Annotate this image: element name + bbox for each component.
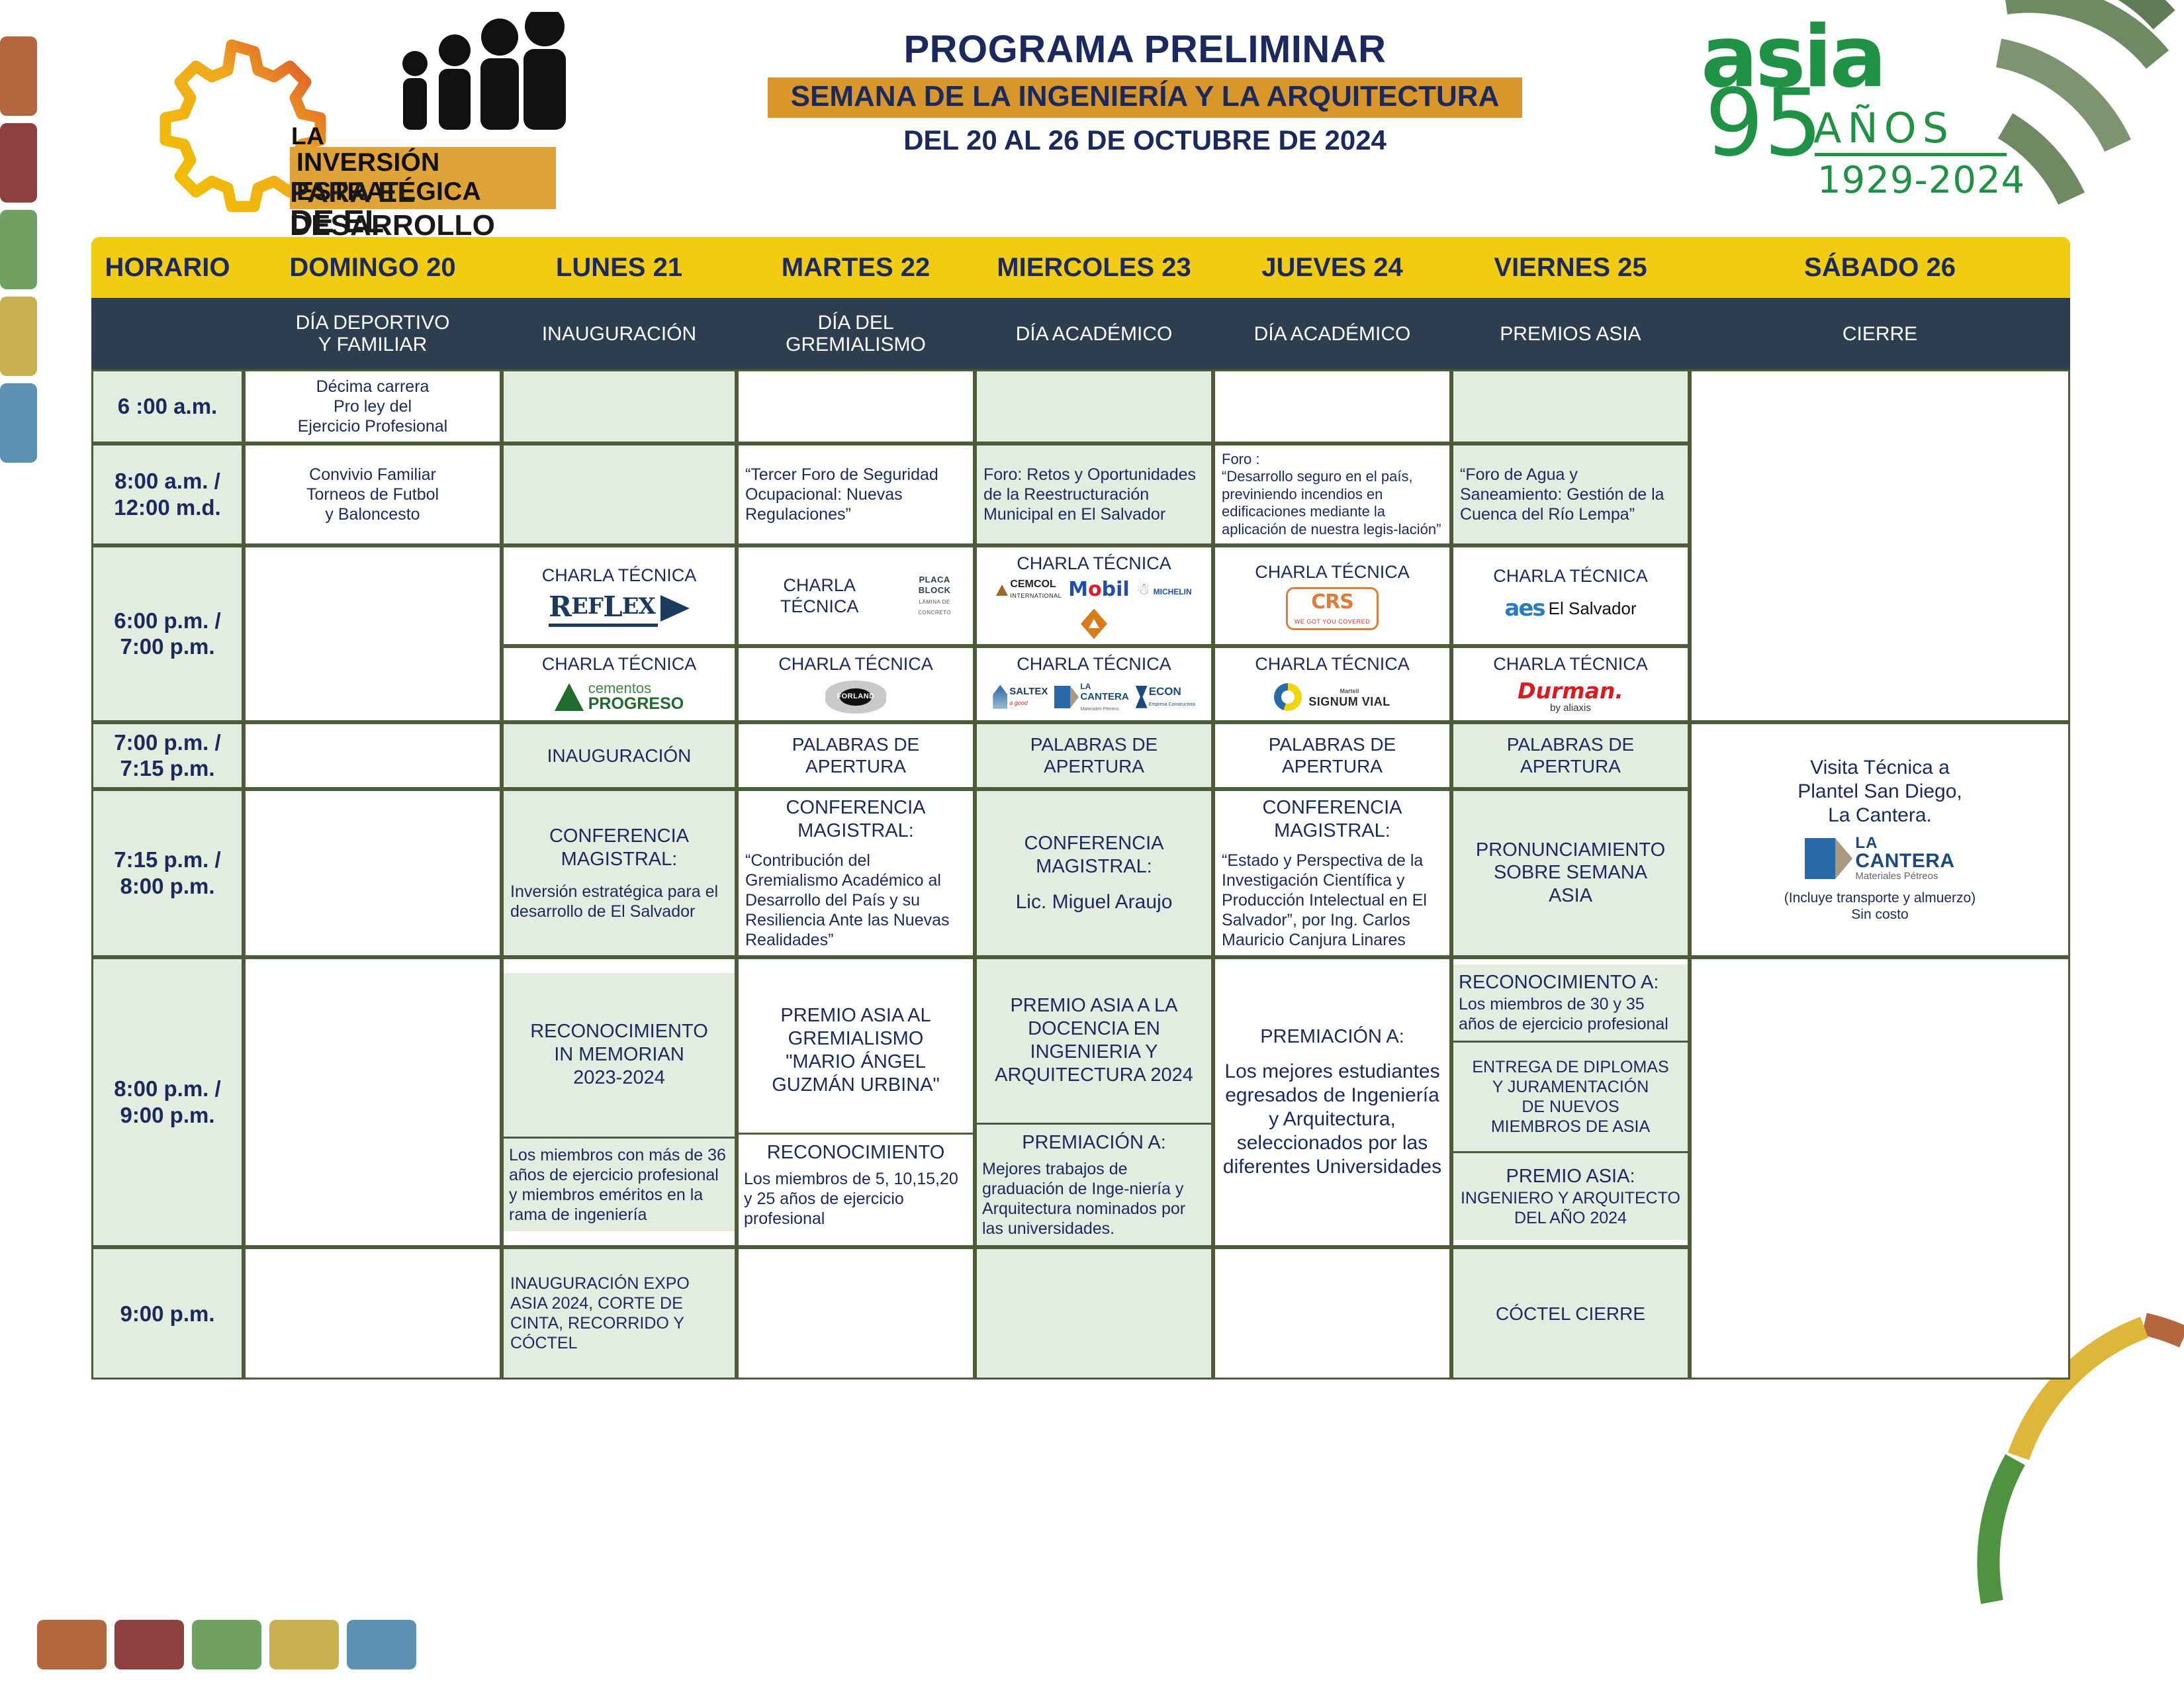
people-icon (394, 12, 566, 138)
martell-spiral-icon (1274, 683, 1302, 711)
saltex-tagline: a good (1009, 700, 1028, 706)
cemcol-name: CEMCOL (1010, 579, 1056, 590)
theme-domingo: DÍA DEPORTIVOY FAMILIAR (244, 298, 502, 369)
charla-label: CHARLA TÉCNICA (745, 653, 966, 675)
cell-jueves-715pm: CONFERENCIAMAGISTRAL: “Estado y Perspect… (1213, 789, 1451, 957)
logo-slot: REFLEX (510, 590, 728, 627)
michelin-logo: ☃ MICHELIN (1136, 582, 1192, 598)
la-cantera-logo: LA CANTERA Materiales Pétreos (1054, 681, 1128, 713)
jueves-conferencia-body: “Estado y Perspectiva de la Investigació… (1222, 851, 1443, 950)
cemcol-triangle-icon (996, 585, 1008, 596)
martes-reconocimiento-body: Los miembros de 5, 10,15,20 y 25 años de… (744, 1169, 968, 1229)
schedule-row-6am: 6 :00 a.m. Décima carreraPro ley delEjer… (91, 369, 2070, 444)
cell-martes-7pm: PALABRAS DEAPERTURA (737, 722, 975, 789)
cell-miercoles-9pm (975, 1247, 1213, 1380)
col-header-sabado: SÁBADO 26 (1690, 237, 2070, 298)
chip-red-bottom (114, 1620, 184, 1669)
chip-orange-bottom (37, 1620, 107, 1669)
chip-blue (0, 383, 37, 463)
durman-name: Durman. (1518, 678, 1623, 704)
econ-tagline: Empresa Constructora (1149, 702, 1195, 707)
cell-jueves-charla-1: CHARLA TÉCNICA CRS WE GOT YOU COVERED (1213, 545, 1451, 646)
logo-slot: Martell SIGNUM VIAL (1222, 679, 1443, 715)
econ-name: ECON (1149, 685, 1181, 698)
lunes-reconocimiento-body: Los miembros con más de 36 años de ejerc… (504, 1139, 735, 1231)
time-715pm: 7:15 p.m. /8:00 p.m. (91, 789, 244, 957)
charla-label: CHARLA TÉCNICA (983, 553, 1205, 574)
cell-domingo-6am: Décima carreraPro ley delEjercicio Profe… (244, 369, 502, 444)
cell-martes-6am (737, 369, 975, 444)
cell-viernes-8pm: RECONOCIMIENTO A: Los miembros de 30 y 3… (1451, 957, 1690, 1248)
campaign-logo: LA INVERSIÓN ESTRATÉGICA PARA EL DESARRO… (132, 7, 556, 225)
jueves-conferencia-title: CONFERENCIAMAGISTRAL: (1222, 796, 1443, 843)
theme-viernes: PREMIOS ASIA (1451, 298, 1690, 369)
cell-lunes-6am (502, 369, 737, 444)
logo-slot: Durman. by aliaxis (1460, 679, 1681, 715)
cell-domingo-7pm (244, 722, 502, 789)
cell-viernes-9pm: CÓCTEL CIERRE (1451, 1247, 1690, 1380)
col-header-lunes: LUNES 21 (502, 237, 737, 298)
logo-slot: cementos PROGRESO (510, 679, 728, 715)
asia-anniversary-number: 95 (1705, 87, 1823, 161)
reflex-logo: REFLEX (549, 590, 658, 627)
cell-viernes-6am (1451, 369, 1690, 444)
placa-block-logo: PLACA BLOCK LÁMINA DE CONCRETO (903, 575, 966, 617)
logo-slot: SALTEX a good LA CANTERA Materiales Pétr… (983, 679, 1205, 715)
crs-name: CRS (1311, 590, 1353, 614)
cell-martes-9pm (737, 1247, 975, 1380)
martes-conferencia-title: CONFERENCIAMAGISTRAL: (745, 796, 966, 843)
charla-label: CHARLA TÉCNICA (1460, 653, 1681, 675)
sabado-note-incluye: (Incluye transporte y almuerzo) (1698, 890, 2062, 906)
sabado-note-sin-costo: Sin costo (1698, 906, 2062, 923)
lunes-reconocimiento-title: RECONOCIMIENTOIN MEMORIAN2023-2024 (504, 973, 735, 1139)
lunes-conferencia-title: CONFERENCIAMAGISTRAL: (510, 825, 728, 871)
day-header-row: HORARIO DOMINGO 20 LUNES 21 MARTES 22 MI… (91, 237, 2070, 298)
cell-sabado-8pm (1690, 957, 2070, 1380)
cell-domingo-9pm (244, 1247, 502, 1380)
cantera-la: LA (1080, 682, 1091, 691)
decorative-arc-top-right (1966, 0, 2184, 252)
cell-miercoles-7pm: PALABRAS DEAPERTURA (975, 722, 1213, 789)
durman-logo: Durman. by aliaxis (1518, 680, 1623, 714)
asia-anos-label: AÑOS (1813, 104, 1954, 152)
cell-lunes-8am (502, 444, 737, 545)
econ-logo: ECON Empresa Constructora (1136, 686, 1195, 708)
viernes-reconocimiento-body: Los miembros de 30 y 35 años de ejercici… (1459, 994, 1682, 1034)
miercoles-conferencia-title: CONFERENCIAMAGISTRAL: (983, 832, 1205, 878)
durman-tagline: by aliaxis (1550, 702, 1591, 714)
cell-jueves-charla-2: CHARLA TÉCNICA Martell SIGNUM VIAL (1213, 646, 1451, 722)
time-8pm: 8:00 p.m. /9:00 p.m. (91, 957, 244, 1248)
cell-miercoles-8pm: PREMIO ASIA A LADOCENCIA ENINGENIERIA YA… (975, 957, 1213, 1248)
time-6am: 6 :00 a.m. (91, 369, 244, 444)
theme-sabado: CIERRE (1690, 298, 2070, 369)
theme-header-row: DÍA DEPORTIVOY FAMILIAR INAUGURACIÓN DÍA… (91, 298, 2070, 369)
cell-lunes-8pm: RECONOCIMIENTOIN MEMORIAN2023-2024 Los m… (502, 957, 737, 1248)
cantera-name: CANTERA (1855, 850, 1954, 872)
charla-label: CHARLA TÉCNICA (510, 653, 728, 675)
schedule-row-8pm: 8:00 p.m. /9:00 p.m. RECONOCIMIENTOIN ME… (91, 957, 2070, 1248)
signum-name: SIGNUM VIAL (1308, 695, 1390, 708)
martes-reconocimiento-title: RECONOCIMIENTO (744, 1141, 968, 1164)
miercoles-conferencia-body: Lic. Miguel Araujo (983, 890, 1205, 914)
title-block: PROGRAMA PRELIMINAR SEMANA DE LA INGENIE… (768, 30, 1522, 156)
campaign-la: LA (291, 122, 324, 150)
time-6pm: 6:00 p.m. /7:00 p.m. (91, 545, 244, 722)
jueves-premiacion-title: PREMIACIÓN A: (1222, 1025, 1443, 1049)
cell-viernes-7pm: PALABRAS DEAPERTURA (1451, 722, 1690, 789)
econ-mark-icon (1136, 686, 1148, 708)
cell-miercoles-8am: Foro: Retos y Oportunidades de la Reestr… (975, 444, 1213, 545)
miercoles-premiacion-title: PREMIACIÓN A: (982, 1131, 1206, 1154)
viernes-entrega-diplomas: ENTREGA DE DIPLOMASY JURAMENTACIÓNDE NUE… (1453, 1043, 1688, 1153)
theme-martes: DÍA DELGREMIALISMO (737, 298, 975, 369)
time-7pm: 7:00 p.m. /7:15 p.m. (91, 722, 244, 789)
cell-domingo-8am: Convivio FamiliarTorneos de Futboly Balo… (244, 444, 502, 545)
logo-slot: aes El Salvador (1460, 590, 1681, 626)
cell-lunes-715pm: CONFERENCIAMAGISTRAL: Inversión estratég… (502, 789, 737, 957)
cantera-tagline: Materiales Pétreos (1855, 870, 1938, 882)
cell-miercoles-715pm: CONFERENCIAMAGISTRAL: Lic. Miguel Araujo (975, 789, 1213, 957)
col-header-jueves: JUEVES 24 (1213, 237, 1451, 298)
cell-jueves-8am: Foro :“Desarrollo seguro en el país, pre… (1213, 444, 1451, 545)
cantera-tagline: Materiales Pétreos (1080, 707, 1118, 712)
cell-martes-715pm: CONFERENCIAMAGISTRAL: “Contribución del … (737, 789, 975, 957)
col-header-domingo: DOMINGO 20 (244, 237, 502, 298)
placa-block-tagline: LÁMINA DE CONCRETO (918, 599, 951, 616)
sabado-visita-title: Visita Técnica aPlantel San Diego,La Can… (1698, 756, 2062, 827)
viernes-reconocimiento-title: RECONOCIMIENTO A: (1459, 971, 1682, 994)
viernes-premio-asia-body: INGENIERO Y ARQUITECTODEL AÑO 2024 (1459, 1188, 1682, 1228)
chip-yellow-bottom (269, 1620, 339, 1669)
charla-label: CHARLA TÉCNICA (1222, 653, 1443, 675)
charla-label: CHARLA TÉCNICA (1460, 565, 1681, 586)
la-cantera-logo: LA CANTERA Materiales Pétreos (1698, 835, 2062, 882)
logo-slot: FORLAND (745, 679, 966, 715)
cementos-progreso-logo: cementos PROGRESO (555, 681, 684, 712)
cell-domingo-715pm (244, 789, 502, 957)
cell-miercoles-charla-1: CHARLA TÉCNICA CEMCOL INTERNATIONAL Mobi… (975, 545, 1213, 646)
charla-label: CHARLA TÉCNICA (1222, 561, 1443, 583)
schedule-table: HORARIO DOMINGO 20 LUNES 21 MARTES 22 MI… (91, 237, 2070, 1380)
miercoles-premiacion-body: Mejores trabajos de graduación de Inge-n… (982, 1159, 1206, 1239)
cell-martes-8pm: PREMIO ASIA ALGREMIALISMO"MARIO ÁNGELGUZ… (737, 957, 975, 1248)
lunes-conferencia-body: Inversión estratégica para el desarrollo… (510, 882, 728, 921)
chip-yellow (0, 297, 37, 376)
viernes-premio-asia-title: PREMIO ASIA: (1459, 1165, 1682, 1188)
cell-jueves-7pm: PALABRAS DEAPERTURA (1213, 722, 1451, 789)
mobil-logo: Mobil (1068, 578, 1130, 602)
cemcol-tagline: INTERNATIONAL (1010, 592, 1062, 599)
michelin-man-icon: ☃ (1136, 581, 1151, 598)
charla-label: CHARLA TÉCNICA (510, 565, 728, 586)
michelin-name: MICHELIN (1154, 587, 1192, 596)
cell-lunes-charla-2: CHARLA TÉCNICA cementos PROGRESO (502, 646, 737, 722)
martes-premio-title: PREMIO ASIA ALGREMIALISMO"MARIO ÁNGELGUZ… (739, 969, 973, 1135)
time-8am: 8:00 a.m. /12:00 m.d. (91, 444, 244, 545)
col-header-martes: MARTES 22 (737, 237, 975, 298)
progreso-triangle-icon (555, 683, 584, 711)
time-9pm: 9:00 p.m. (91, 1247, 244, 1380)
cell-martes-charla-1: CHARLA TÉCNICA PLACA BLOCK LÁMINA DE CON… (737, 545, 975, 646)
cell-jueves-6am (1213, 369, 1451, 444)
theme-blank (91, 298, 244, 369)
schedule-table-wrap: HORARIO DOMINGO 20 LUNES 21 MARTES 22 MI… (91, 237, 2070, 1380)
cell-sabado-visita: Visita Técnica aPlantel San Diego,La Can… (1690, 722, 2070, 957)
bottom-color-chips (37, 1620, 416, 1669)
signum-prefix: Martell (1340, 688, 1359, 694)
cell-miercoles-6am (975, 369, 1213, 444)
placa-block-name: PLACA BLOCK (919, 575, 951, 595)
cell-viernes-8am: “Foro de Agua y Saneamiento: Gestión de … (1451, 444, 1690, 545)
cell-jueves-9pm (1213, 1247, 1451, 1380)
saltex-shield-icon (993, 685, 1007, 709)
cantera-k-icon (1054, 686, 1070, 708)
jueves-premiacion-body: Los mejores estudiantes egresados de Ing… (1222, 1060, 1443, 1179)
cell-domingo-6pm (244, 545, 502, 722)
theme-lunes: INAUGURACIÓN (502, 298, 737, 369)
chip-green-bottom (192, 1620, 261, 1669)
charla-label: CHARLA TÉCNICA (983, 653, 1205, 675)
crs-logo: CRS WE GOT YOU COVERED (1286, 587, 1379, 630)
page-subtitle: SEMANA DE LA INGENIERÍA Y LA ARQUITECTUR… (768, 77, 1522, 117)
cemcol-logo: CEMCOL INTERNATIONAL (996, 579, 1062, 600)
cell-sabado-morning (1690, 369, 2070, 722)
martes-conferencia-body: “Contribución del Gremialismo Académico … (745, 851, 966, 950)
logo-slot: CEMCOL INTERNATIONAL Mobil ☃ MICHELIN (983, 578, 1205, 639)
cell-jueves-8pm: PREMIACIÓN A: Los mejores estudiantes eg… (1213, 957, 1451, 1248)
diamond-logo (1081, 608, 1107, 639)
page-dates: DEL 20 AL 26 DE OCTUBRE DE 2024 (768, 124, 1522, 156)
cell-viernes-charla-2: CHARLA TÉCNICA Durman. by aliaxis (1451, 646, 1690, 722)
saltex-name: SALTEX (1009, 686, 1048, 697)
page-header: LA INVERSIÓN ESTRATÉGICA PARA EL DESARRO… (0, 0, 2184, 235)
cantera-la: LA (1855, 834, 1878, 852)
charla-label: CHARLA TÉCNICA (745, 575, 893, 618)
cell-martes-charla-2: CHARLA TÉCNICA FORLAND (737, 646, 975, 722)
progreso-word-progreso: PROGRESO (588, 694, 684, 713)
theme-jueves: DÍA ACADÉMICO (1213, 298, 1451, 369)
martell-logo (1274, 683, 1302, 711)
chip-blue-bottom (347, 1620, 416, 1669)
cell-viernes-charla-1: CHARLA TÉCNICA aes El Salvador (1451, 545, 1690, 646)
reflex-cone-icon (660, 595, 690, 622)
cell-martes-8am: “Tercer Foro de Seguridad Ocupacional: N… (737, 444, 975, 545)
aes-mark: aes (1504, 595, 1544, 622)
cantera-k-icon (1805, 838, 1835, 879)
cell-domingo-8pm (244, 957, 502, 1248)
col-header-viernes: VIERNES 25 (1451, 237, 1690, 298)
signum-vial-logo: Martell SIGNUM VIAL (1308, 685, 1390, 708)
cell-lunes-7pm: INAUGURACIÓN (502, 722, 737, 789)
col-header-horario: HORARIO (91, 237, 244, 298)
col-header-miercoles: MIERCOLES 23 (975, 237, 1213, 298)
cell-miercoles-charla-2: CHARLA TÉCNICA SALTEX a good LA CANTERA … (975, 646, 1213, 722)
theme-miercoles: DÍA ACADÉMICO (975, 298, 1213, 369)
logo-slot: CRS WE GOT YOU COVERED (1222, 587, 1443, 630)
aes-el-salvador-logo: aes El Salvador (1504, 595, 1636, 622)
forland-logo: FORLAND (825, 680, 886, 714)
cantera-name: CANTERA (1080, 691, 1128, 702)
saltex-logo: SALTEX a good (993, 685, 1048, 709)
cell-lunes-9pm: INAUGURACIÓN EXPO ASIA 2024, CORTE DE CI… (502, 1247, 737, 1380)
page-title: PROGRAMA PRELIMINAR (768, 30, 1522, 70)
crs-tagline: WE GOT YOU COVERED (1295, 618, 1370, 625)
aes-country: El Salvador (1549, 598, 1637, 619)
miercoles-premio-title: PREMIO ASIA A LADOCENCIA ENINGENIERIA YA… (977, 959, 1211, 1125)
cell-lunes-charla-1: CHARLA TÉCNICA REFLEX (502, 545, 737, 646)
cell-viernes-715pm: PRONUNCIAMIENTOSOBRE SEMANAASIA (1451, 789, 1690, 957)
schedule-row-7pm: 7:00 p.m. /7:15 p.m. INAUGURACIÓN PALABR… (91, 722, 2070, 789)
